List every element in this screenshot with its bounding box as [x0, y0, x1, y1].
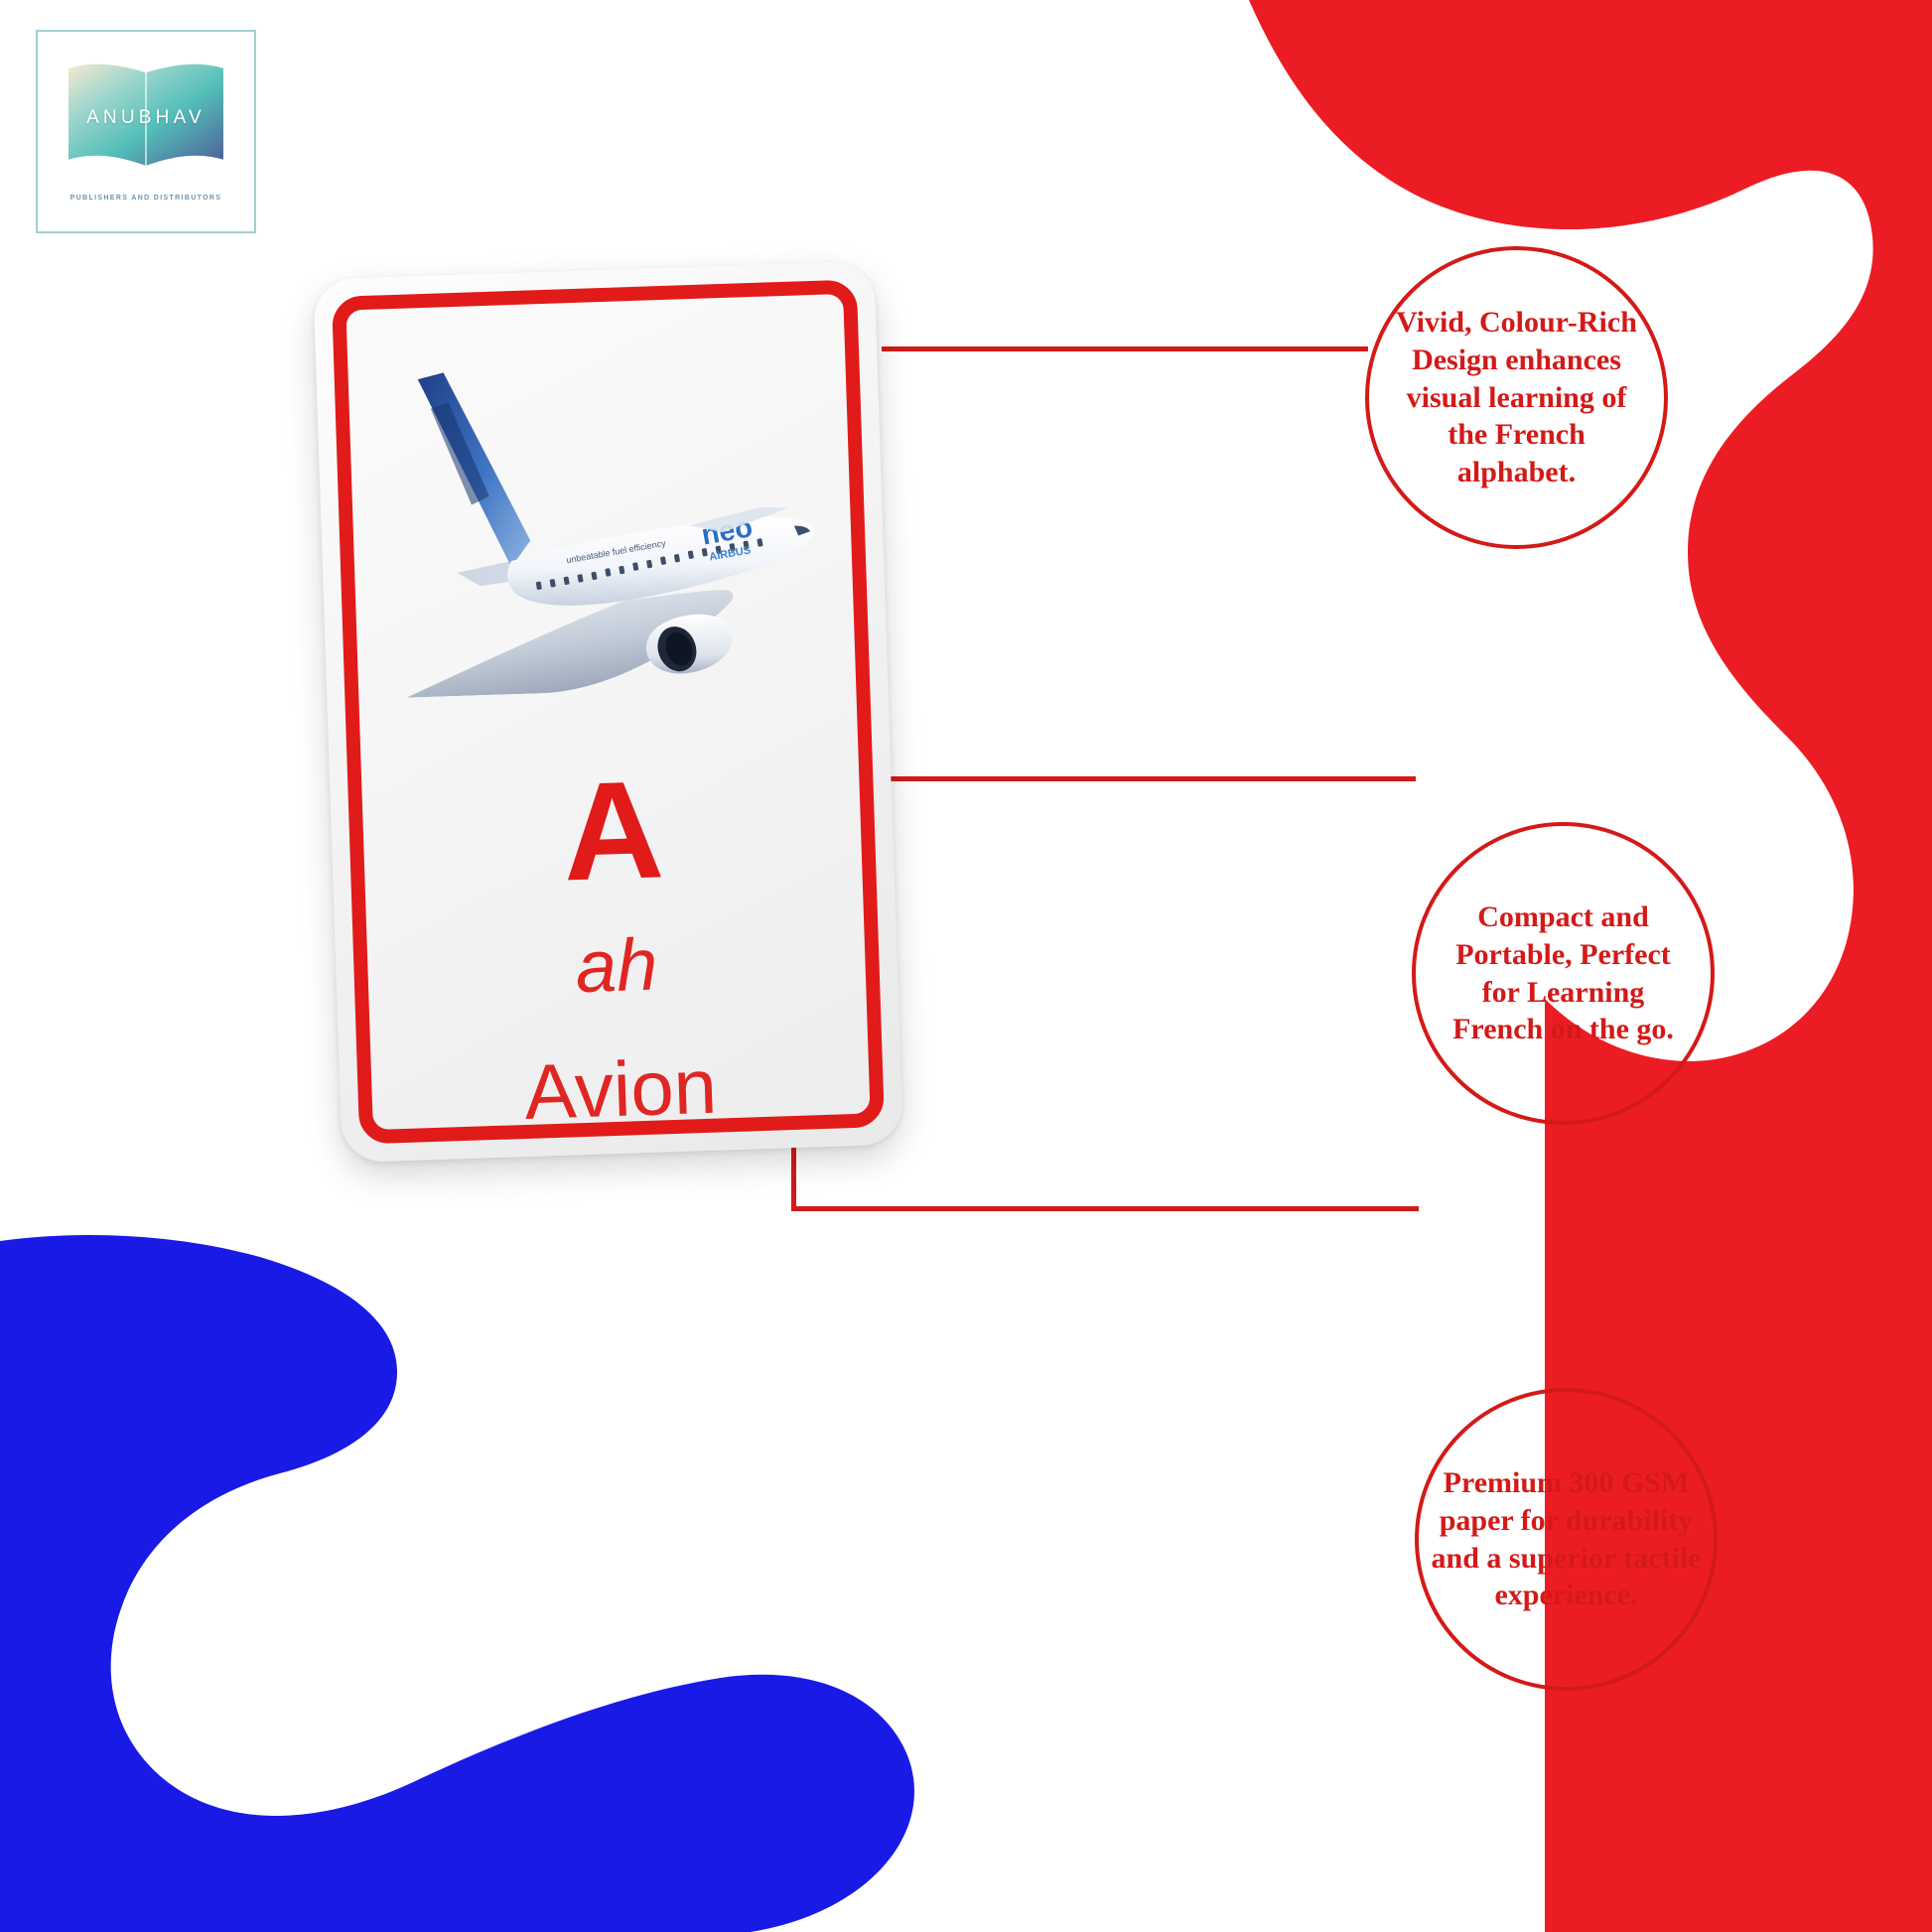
- callout-bubble-1[interactable]: Vivid, Colour-Rich Design enhances visua…: [1365, 246, 1668, 549]
- flashcard-face: unbeatable fuel efficiency neo AIRBUS: [332, 279, 885, 1144]
- blue-blob-shape: [0, 1235, 914, 1932]
- brand-wordmark: ANUBHAV: [62, 58, 230, 179]
- callout-bubble-2[interactable]: Compact and Portable, Perfect for Learni…: [1412, 822, 1715, 1125]
- connector-line-3-horizontal: [791, 1206, 1419, 1211]
- callout-text-2: Compact and Portable, Perfect for Learni…: [1416, 898, 1711, 1048]
- brand-logo: ANUBHAV PUBLISHERS AND DISTRIBUTORS: [36, 30, 256, 233]
- connector-line-1: [882, 346, 1368, 351]
- open-book-icon: ANUBHAV: [62, 58, 230, 179]
- callout-text-1: Vivid, Colour-Rich Design enhances visua…: [1369, 304, 1664, 491]
- airplane-icon: unbeatable fuel efficiency neo AIRBUS: [345, 294, 858, 761]
- callout-bubble-3[interactable]: Premium 300 GSM paper for durability and…: [1415, 1388, 1718, 1691]
- flashcard-phonetic: ah: [575, 927, 659, 1004]
- brand-tagline: PUBLISHERS AND DISTRIBUTORS: [70, 195, 222, 202]
- callout-text-3: Premium 300 GSM paper for durability and…: [1419, 1464, 1714, 1614]
- flashcard[interactable]: unbeatable fuel efficiency neo AIRBUS: [313, 261, 902, 1163]
- connector-line-2: [878, 776, 1416, 781]
- poster-canvas: ANUBHAV PUBLISHERS AND DISTRIBUTORS: [0, 0, 1932, 1932]
- flashcard-word: Avion: [523, 1046, 718, 1130]
- flashcard-letter: A: [561, 765, 663, 897]
